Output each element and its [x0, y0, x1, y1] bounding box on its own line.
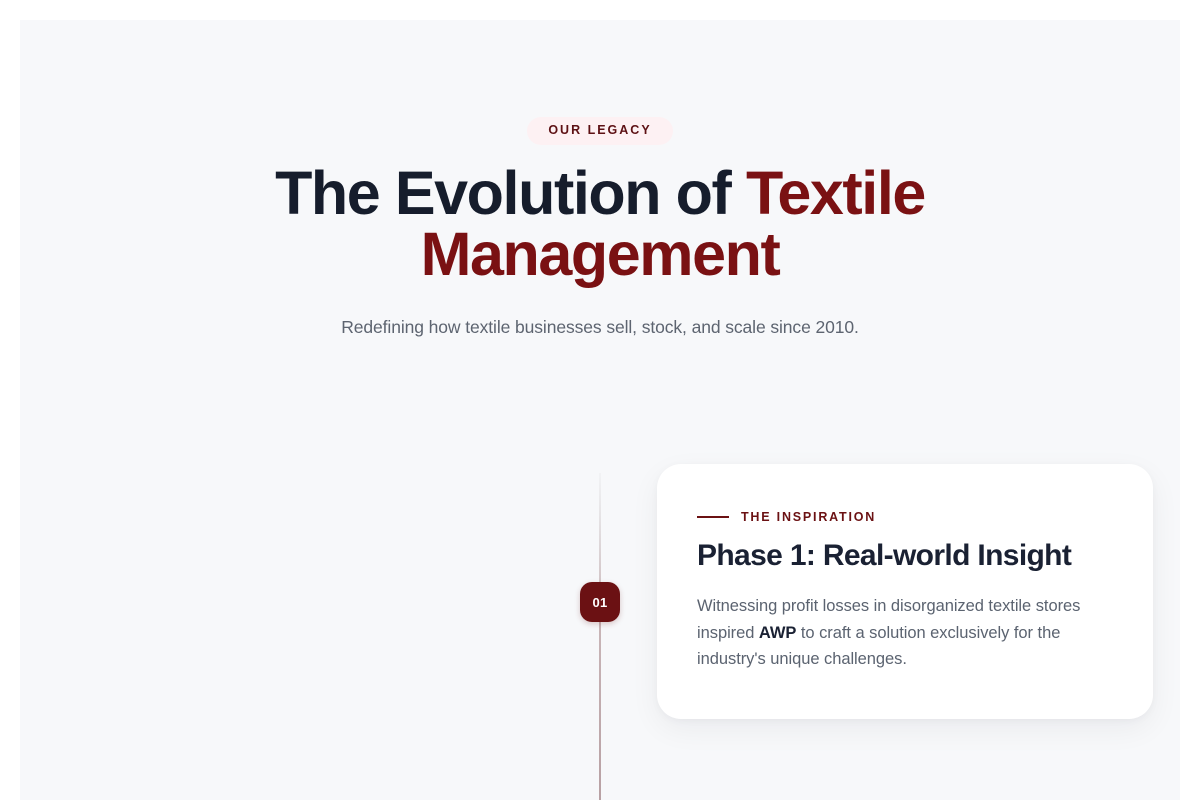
hero-section: OUR LEGACY The Evolution of Textile Mana… — [20, 20, 1180, 340]
hero-eyebrow-badge: OUR LEGACY — [527, 117, 672, 145]
card-body: Witnessing profit losses in disorganized… — [697, 593, 1113, 673]
card-body-emphasis: AWP — [759, 624, 796, 642]
timeline-marker-01[interactable]: 01 — [580, 582, 620, 622]
hero-subtitle: Redefining how textile businesses sell, … — [20, 314, 1180, 340]
page-title-primary: The Evolution of — [275, 159, 746, 227]
timeline-axis-line — [599, 473, 601, 800]
card-eyebrow: THE INSPIRATION — [697, 510, 1113, 524]
horizontal-rule-icon — [697, 516, 729, 518]
timeline-card-01: THE INSPIRATION Phase 1: Real-world Insi… — [657, 464, 1153, 719]
page-root: OUR LEGACY The Evolution of Textile Mana… — [20, 20, 1180, 800]
page-title: The Evolution of Textile Management — [220, 163, 980, 285]
card-eyebrow-label: THE INSPIRATION — [741, 510, 876, 524]
card-title: Phase 1: Real-world Insight — [697, 538, 1113, 574]
